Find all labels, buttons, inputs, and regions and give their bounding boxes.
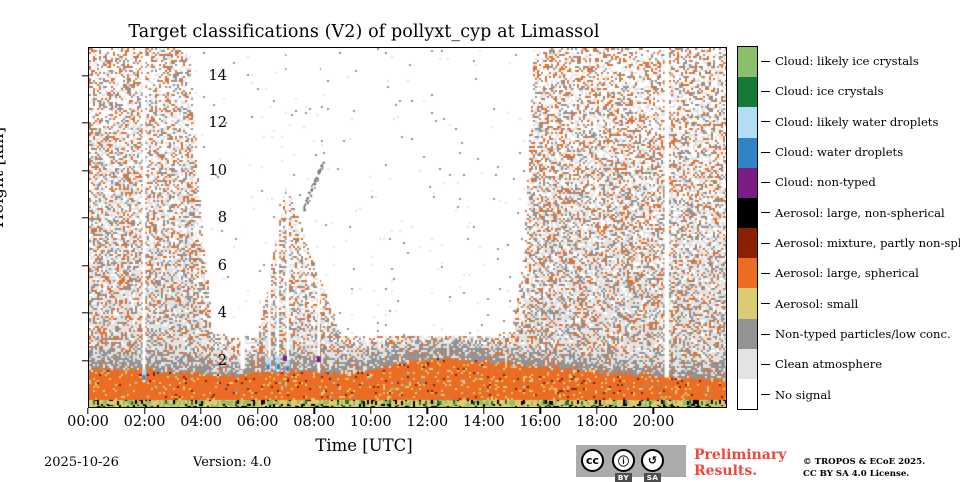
- y-tick-mark-5: [82, 122, 88, 123]
- x-tick-label-0: 00:00: [67, 414, 109, 430]
- legend-item-11: No signal: [758, 380, 831, 410]
- y-tick-mark-6: [82, 75, 88, 76]
- legend-tick-icon: [761, 364, 770, 365]
- legend-item-5: Aerosol: large, non-spherical: [758, 198, 945, 228]
- y-axis-label: Height [km]: [0, 127, 7, 228]
- x-tick-mark-0: [87, 408, 88, 414]
- legend-label: Cloud: non-typed: [775, 175, 876, 189]
- colorbar-cell-5: [738, 198, 757, 228]
- x-tick-mark-8: [540, 408, 541, 414]
- colorbar: [737, 46, 758, 410]
- y-tick-mark-4: [82, 170, 88, 171]
- x-tick-label-9: 18:00: [576, 414, 618, 430]
- y-tick-mark-0: [82, 360, 88, 361]
- cc-license-badge[interactable]: cc ⓘ BY ↺ SA: [576, 445, 686, 477]
- colorbar-cell-9: [738, 319, 757, 349]
- y-tick-mark-3: [82, 217, 88, 218]
- legend-item-2: Cloud: likely water droplets: [758, 107, 938, 137]
- legend-tick-icon: [761, 91, 770, 92]
- colorbar-cell-4: [738, 168, 757, 198]
- legend-tick-icon: [761, 182, 770, 183]
- legend-tick-icon: [761, 334, 770, 335]
- colorbar-cell-2: [738, 107, 757, 137]
- colorbar-cell-3: [738, 138, 757, 168]
- legend-item-10: Clean atmosphere: [758, 349, 882, 379]
- footer-date: 2025-10-26: [44, 455, 119, 470]
- colorbar-cell-7: [738, 258, 757, 288]
- footer-version: Version: 4.0: [193, 455, 271, 470]
- x-tick-mark-6: [427, 408, 428, 414]
- y-tick-label-1: 4: [218, 305, 227, 321]
- classification-heatmap-canvas: [89, 48, 726, 407]
- colorbar-cell-0: [738, 47, 757, 77]
- legend-item-8: Aerosol: small: [758, 289, 858, 319]
- lidar-classification-figure: Target classifications (V2) of pollyxt_c…: [0, 0, 960, 480]
- x-tick-label-2: 04:00: [180, 414, 222, 430]
- cc-by-label: BY: [615, 473, 632, 482]
- x-tick-label-3: 06:00: [237, 414, 279, 430]
- legend-label: Aerosol: large, spherical: [775, 266, 919, 280]
- cc-logo-group: cc: [576, 445, 604, 472]
- x-tick-mark-3: [257, 408, 258, 414]
- y-tick-label-5: 12: [209, 115, 227, 131]
- page-title: Target classifications (V2) of pollyxt_c…: [0, 22, 728, 42]
- x-tick-mark-5: [370, 408, 371, 414]
- x-tick-label-1: 02:00: [124, 414, 166, 430]
- preliminary-results-notice: Preliminary Results.: [694, 448, 784, 479]
- cc-sa-group: ↺ SA: [641, 449, 664, 482]
- legend-item-0: Cloud: likely ice crystals: [758, 46, 919, 76]
- legend-tick-icon: [761, 243, 770, 244]
- cc-sa-label: SA: [644, 473, 662, 482]
- legend-item-4: Cloud: non-typed: [758, 167, 876, 197]
- person-icon: ⓘ: [612, 449, 635, 472]
- share-alike-icon: ↺: [641, 449, 664, 472]
- x-tick-label-4: 08:00: [293, 414, 335, 430]
- colorbar-legend: Cloud: likely ice crystalsCloud: ice cry…: [737, 46, 957, 410]
- y-tick-mark-2: [82, 265, 88, 266]
- colorbar-cell-6: [738, 228, 757, 258]
- legend-label: Aerosol: small: [775, 297, 858, 311]
- legend-label: Aerosol: large, non-spherical: [775, 206, 945, 220]
- y-tick-label-2: 6: [218, 258, 227, 274]
- credit-line-2: CC BY SA 4.0 License.: [803, 468, 925, 480]
- legend-item-1: Cloud: ice crystals: [758, 76, 884, 106]
- x-tick-label-6: 12:00: [406, 414, 448, 430]
- legend-item-6: Aerosol: mixture, partly non-spherical: [758, 228, 960, 258]
- legend-tick-icon: [761, 121, 770, 122]
- legend-label: Clean atmosphere: [775, 357, 882, 371]
- y-tick-label-0: 2: [218, 353, 227, 369]
- legend-label: No signal: [775, 388, 831, 402]
- y-tick-label-6: 14: [209, 68, 227, 84]
- legend-tick-icon: [761, 152, 770, 153]
- copyright-credit: © TROPOS & ECoE 2025. CC BY SA 4.0 Licen…: [803, 456, 925, 481]
- y-tick-label-3: 8: [218, 210, 227, 226]
- legend-item-3: Cloud: water droplets: [758, 137, 903, 167]
- cc-icon: cc: [581, 449, 604, 472]
- x-tick-mark-9: [596, 408, 597, 414]
- x-tick-mark-2: [200, 408, 201, 414]
- colorbar-cell-11: [738, 379, 757, 409]
- legend-tick-icon: [761, 394, 770, 395]
- x-tick-label-7: 14:00: [463, 414, 505, 430]
- legend-label: Cloud: water droplets: [775, 145, 903, 159]
- y-tick-label-4: 10: [209, 163, 227, 179]
- legend-label: Cloud: likely ice crystals: [775, 54, 919, 68]
- legend-item-7: Aerosol: large, spherical: [758, 258, 919, 288]
- plot-area: [88, 47, 727, 408]
- x-tick-mark-1: [144, 408, 145, 414]
- legend-label: Aerosol: mixture, partly non-spherical: [775, 236, 960, 250]
- legend-tick-icon: [761, 212, 770, 213]
- legend-label: Cloud: ice crystals: [775, 84, 884, 98]
- x-tick-mark-10: [653, 408, 654, 414]
- x-tick-label-5: 10:00: [350, 414, 392, 430]
- legend-label: Cloud: likely water droplets: [775, 115, 938, 129]
- legend-tick-icon: [761, 273, 770, 274]
- x-tick-mark-7: [483, 408, 484, 414]
- legend-item-9: Non-typed particles/low conc.: [758, 319, 951, 349]
- x-tick-label-10: 20:00: [633, 414, 675, 430]
- legend-tick-icon: [761, 61, 770, 62]
- cc-by-group: ⓘ BY: [612, 449, 635, 482]
- legend-tick-icon: [761, 303, 770, 304]
- x-tick-label-8: 16:00: [519, 414, 561, 430]
- colorbar-cell-10: [738, 349, 757, 379]
- credit-line-1: © TROPOS & ECoE 2025.: [803, 456, 925, 468]
- legend-label: Non-typed particles/low conc.: [775, 327, 951, 341]
- y-tick-mark-1: [82, 312, 88, 313]
- x-tick-mark-4: [313, 408, 314, 414]
- colorbar-cell-8: [738, 288, 757, 318]
- colorbar-cell-1: [738, 77, 757, 107]
